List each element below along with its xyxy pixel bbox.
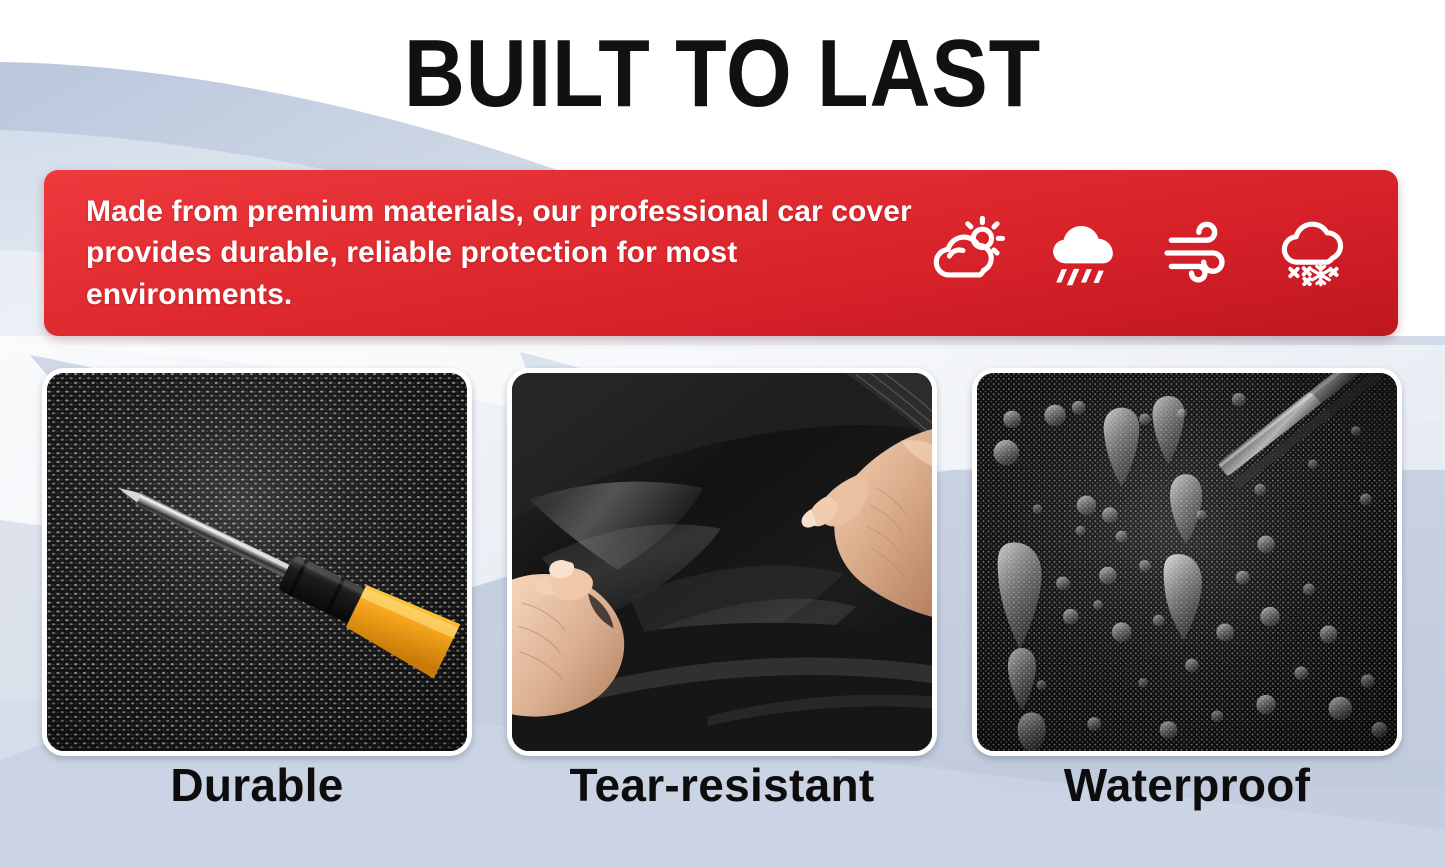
snow-cloud-icon: [1272, 214, 1350, 292]
wind-icon: [1158, 214, 1236, 292]
tear-resistant-hands-stretching-photo: [512, 373, 932, 751]
rain-cloud-icon: [1044, 214, 1122, 292]
feature-panel-group: [42, 368, 1402, 756]
caption-durable: Durable: [42, 762, 472, 808]
feature-panel-durable: [42, 368, 472, 756]
banner-description: Made from premium materials, our profess…: [86, 191, 930, 315]
feature-panel-tear-resistant: [507, 368, 937, 756]
feature-caption-group: Durable Tear-resistant Waterproof: [42, 762, 1402, 808]
page-title: BUILT TO LAST: [87, 26, 1359, 122]
built-to-last-infographic: BUILT TO LAST Made from premium material…: [0, 0, 1445, 867]
feature-panel-waterproof: [972, 368, 1402, 756]
sun-behind-cloud-icon: [930, 214, 1008, 292]
waterproof-water-beading-photo: [977, 373, 1397, 751]
feature-banner: Made from premium materials, our profess…: [44, 170, 1398, 336]
caption-waterproof: Waterproof: [972, 762, 1402, 808]
weather-icon-group: [930, 214, 1376, 292]
durable-fabric-screwdriver-photo: [47, 373, 467, 751]
caption-tear-resistant: Tear-resistant: [507, 762, 937, 808]
